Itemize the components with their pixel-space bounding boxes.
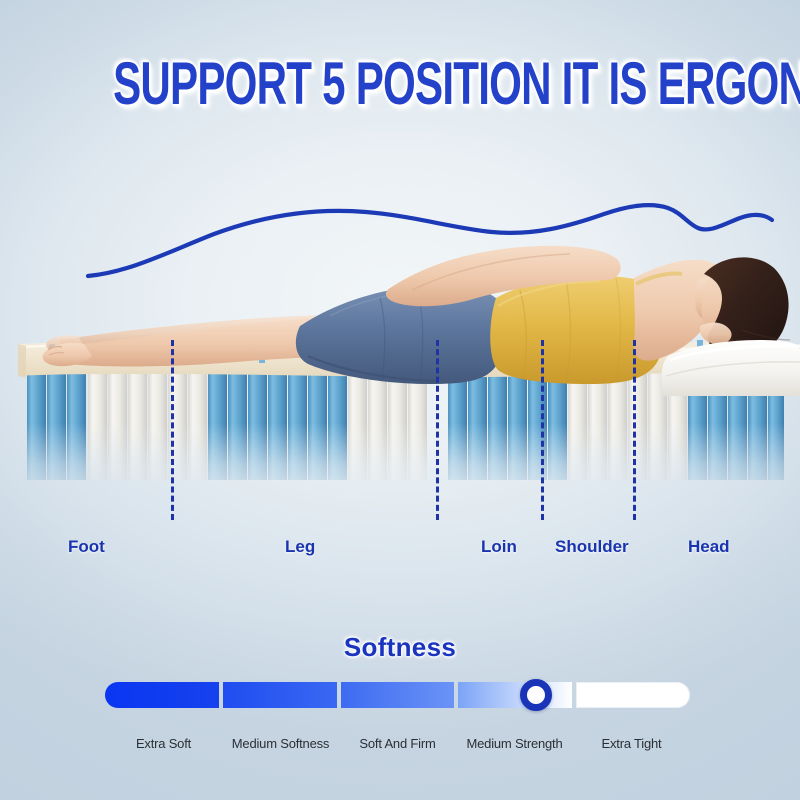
page-title-container: SUPPORT 5 POSITION IT IS ERGONOMIC: [0, 56, 800, 112]
softness-heading: Softness: [0, 632, 800, 663]
softness-label-medium-strength: Medium Strength: [456, 736, 573, 758]
zone-label-foot: Foot: [68, 537, 105, 557]
zone-label-head: Head: [688, 537, 730, 557]
infographic-canvas: SUPPORT 5 POSITION IT IS ERGONOMIC: [0, 0, 800, 800]
zone-label-loin: Loin: [481, 537, 517, 557]
softness-scale-labels: Extra Soft Medium Softness Soft And Firm…: [105, 736, 690, 758]
softness-segment-extra-tight[interactable]: [576, 682, 690, 708]
zone-divider-loin-shoulder: [541, 340, 544, 520]
softness-label-extra-tight: Extra Tight: [573, 736, 690, 758]
zone-divider-shoulder-head: [633, 340, 636, 520]
sleeper-illustration: [0, 150, 800, 410]
softness-label-soft-and-firm: Soft And Firm: [339, 736, 456, 758]
zone-divider-foot-leg: [171, 340, 174, 520]
zone-label-leg: Leg: [285, 537, 315, 557]
softness-label-extra-soft: Extra Soft: [105, 736, 222, 758]
softness-scale-bar[interactable]: [105, 682, 690, 708]
softness-segment-medium-strength[interactable]: [458, 682, 572, 708]
softness-segment-soft-and-firm[interactable]: [341, 682, 455, 708]
zone-divider-leg-loin: [436, 340, 439, 520]
zone-label-shoulder: Shoulder: [555, 537, 629, 557]
softness-segment-extra-soft[interactable]: [105, 682, 219, 708]
page-title: SUPPORT 5 POSITION IT IS ERGONOMIC: [113, 53, 800, 116]
softness-segment-medium-softness[interactable]: [223, 682, 337, 708]
softness-slider-knob[interactable]: [520, 679, 552, 711]
softness-label-medium-softness: Medium Softness: [222, 736, 339, 758]
